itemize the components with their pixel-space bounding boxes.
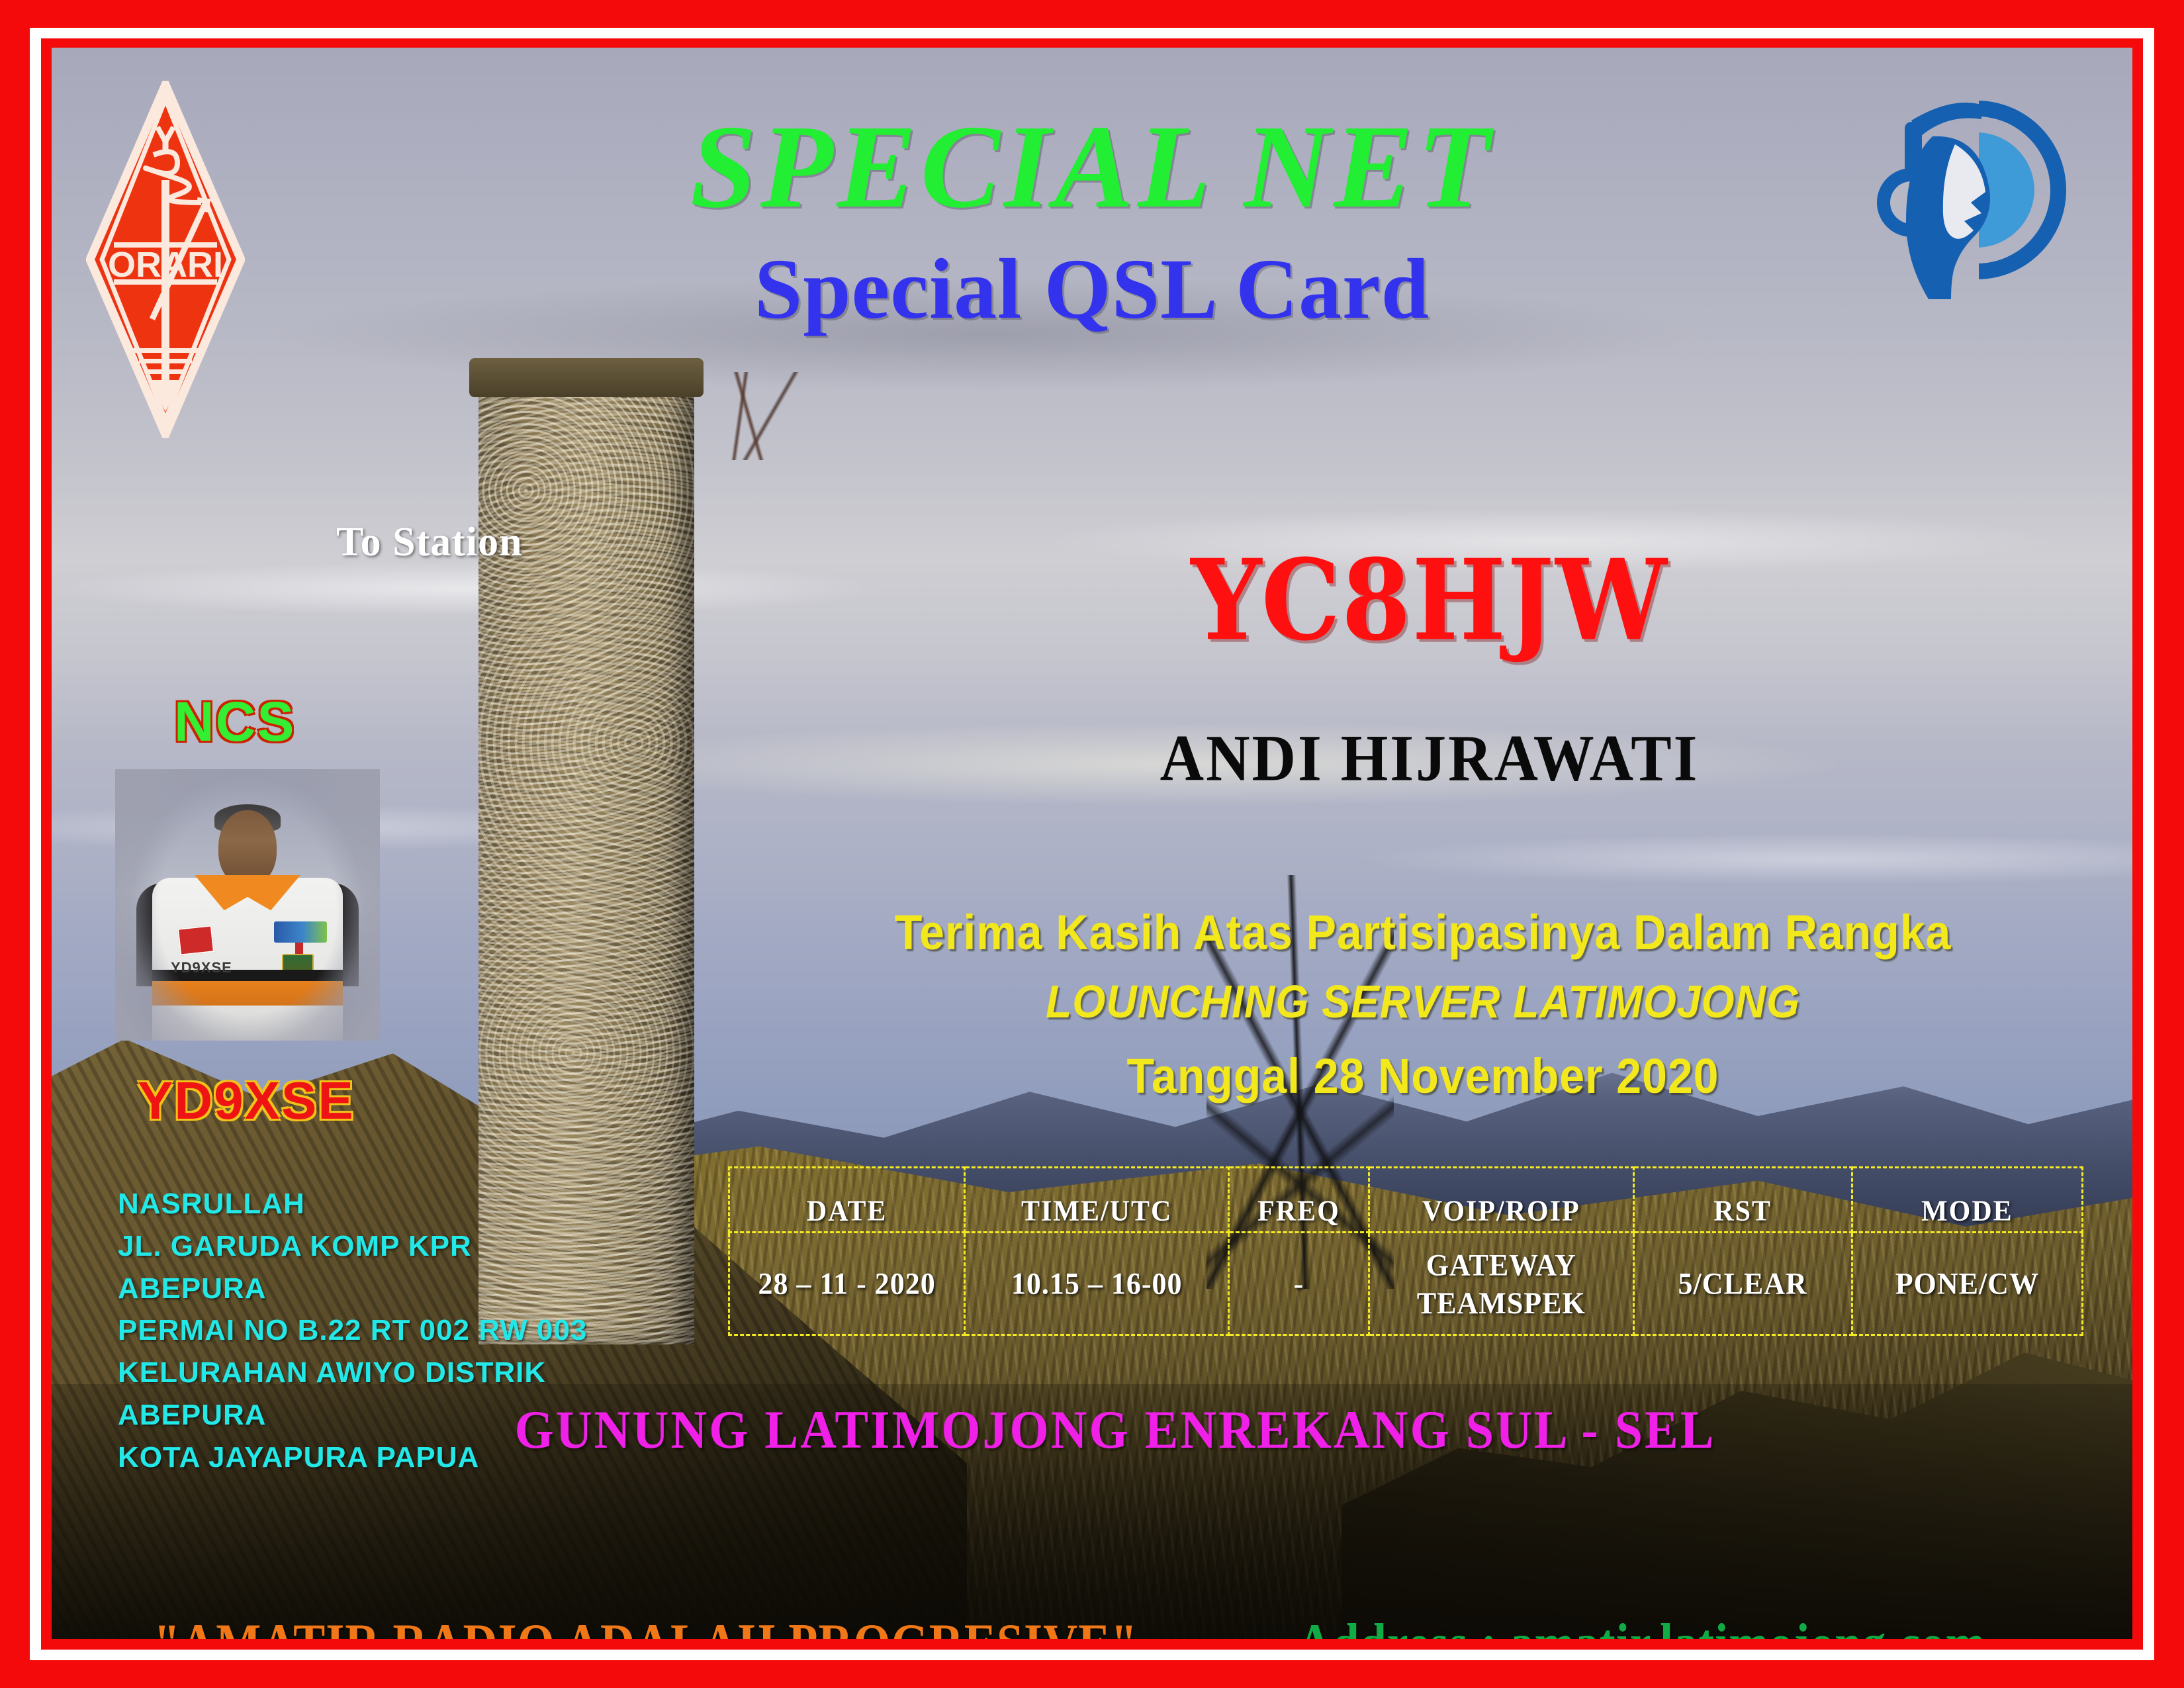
cell-time: 10.15 – 16-00 [965,1230,1229,1338]
column-header-time: TIME/UTC [965,1166,1229,1234]
card-background-photo: ORARI SPECIAL NET Special QSL Card [52,48,2132,1639]
table-header-row: DATE TIME/UTC FREQ VOIP/ROIP RST MODE [729,1168,2083,1233]
address-line: JL. GARUDA KOMP KPR [118,1225,587,1268]
cell-voip: GATEWAY TEAMSPEK [1369,1230,1633,1338]
page-subtitle: Special QSL Card [52,246,2132,332]
thanks-line-1: Terima Kasih Atas Partisipasinya Dalam R… [880,902,1966,963]
column-header-voip: VOIP/ROIP [1369,1166,1633,1234]
cell-voip-line-1: GATEWAY [1371,1245,1632,1284]
table-row: 28 – 11 - 2020 10.15 – 16-00 - GATEWAY T… [729,1233,2083,1335]
cell-freq: - [1229,1230,1369,1338]
cell-voip-line-2: TEAMSPEK [1371,1284,1632,1322]
ncs-label: NCS [174,690,295,754]
thanks-line-2: LOUNCHING SERVER LATIMOJONG [880,972,1966,1031]
footer-slogan: "AMATIR RADIO ADALAH PROGRESIVE" [154,1612,1138,1639]
station-callsign: YC8HJW [932,545,1927,656]
twig [684,372,819,459]
cell-rst: 5/CLEAR [1633,1230,1852,1338]
page-title: SPECIAL NET [52,107,2132,226]
column-header-freq: FREQ [1229,1166,1369,1234]
column-header-rst: RST [1633,1166,1852,1234]
address-line: ABEPURA [118,1268,587,1310]
thanks-block: Terima Kasih Atas Partisipasinya Dalam R… [833,902,2013,1107]
cell-date: 28 – 11 - 2020 [729,1230,965,1338]
ncs-callsign: YD9XSE [138,1070,355,1131]
footer-web-address: Address : amatir.latimojong.com [1297,1612,1985,1639]
qsl-card: ORARI SPECIAL NET Special QSL Card [0,0,2184,1688]
column-header-date: DATE [729,1166,965,1234]
column-header-mode: MODE [1852,1166,2082,1234]
operator-name: ANDI HIJRAWATI [932,720,1927,796]
ncs-operator-photo: YD9XSE [115,769,380,1041]
address-line: KELURAHAN AWIYO DISTRIK [118,1352,587,1394]
address-line: NASRULLAH [118,1183,587,1225]
cell-mode: PONE/CW [1852,1230,2082,1338]
address-line: PERMAI NO B.22 RT 002 RW 003 [118,1309,587,1352]
qso-log-table: DATE TIME/UTC FREQ VOIP/ROIP RST MODE 28… [728,1166,2083,1336]
thanks-line-3: Tanggal 28 November 2020 [880,1045,1966,1107]
to-station-label: To Station [336,519,523,566]
location-caption: GUNUNG LATIMOJONG ENREKANG SUL - SEL [52,1399,2132,1462]
